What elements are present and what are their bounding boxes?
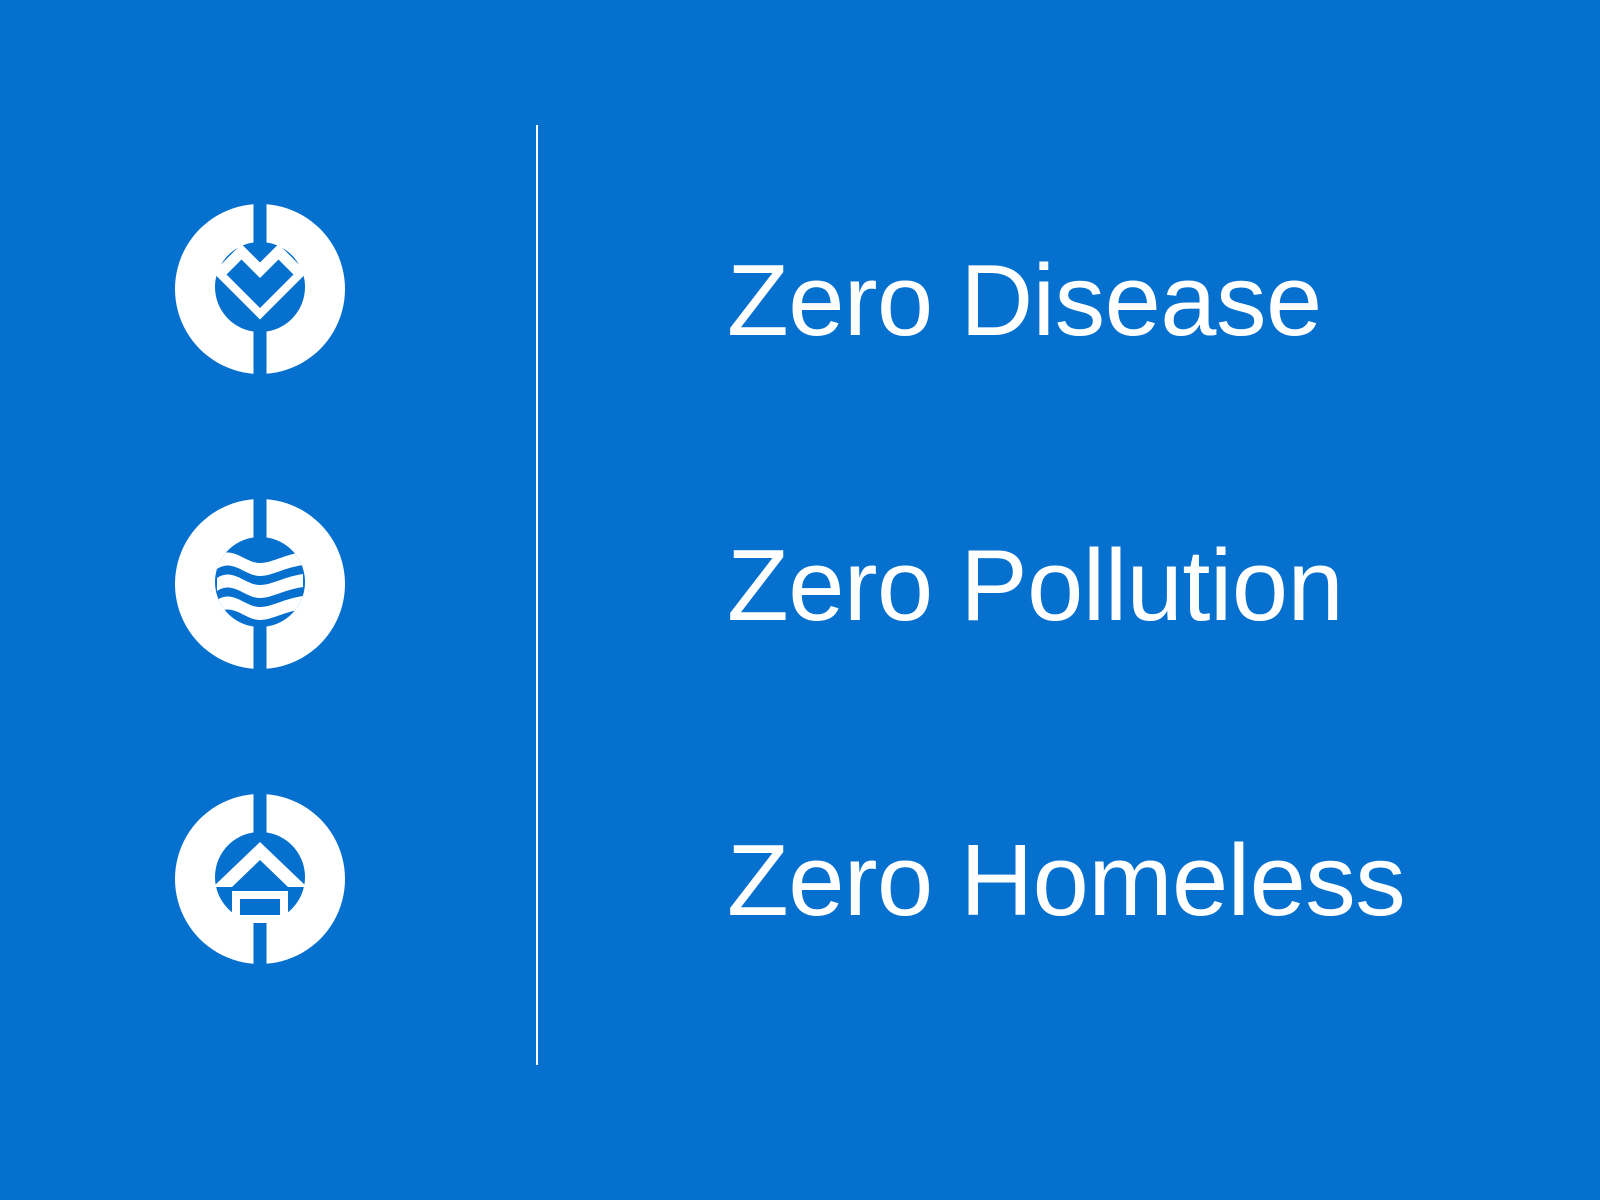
label-column: Zero Disease Zero Pollution Zero Homeles… — [727, 0, 1600, 1200]
icon-slot-homeless — [175, 792, 345, 966]
icon-slot-disease — [175, 202, 345, 376]
label-zero-disease: Zero Disease — [727, 251, 1322, 352]
ring-house-icon — [175, 792, 345, 966]
slide-canvas: Zero Disease Zero Pollution Zero Homeles… — [0, 0, 1600, 1200]
icon-slot-pollution — [175, 497, 345, 671]
vertical-divider — [536, 125, 538, 1065]
ring-waves-icon — [175, 497, 345, 671]
ring-heart-icon — [175, 202, 345, 376]
label-zero-homeless: Zero Homeless — [727, 831, 1405, 932]
label-zero-pollution: Zero Pollution — [727, 536, 1343, 637]
icon-column — [0, 0, 537, 1200]
